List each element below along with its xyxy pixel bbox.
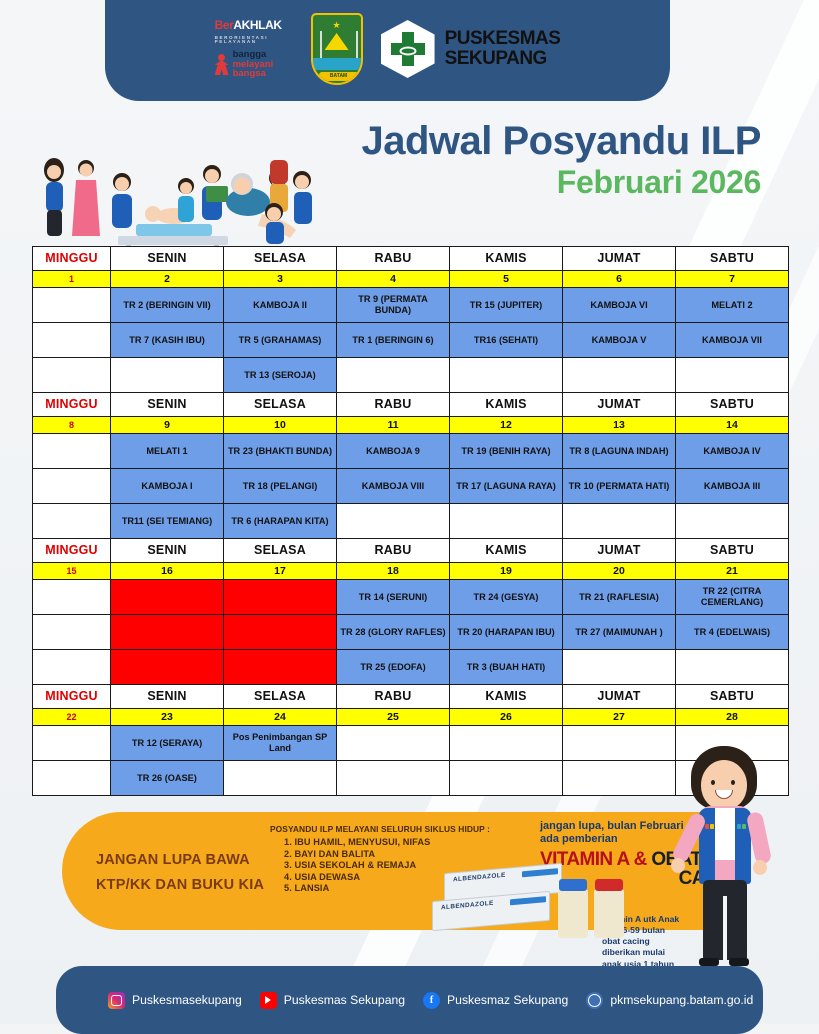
posyandu-cell: MELATI 1: [111, 434, 224, 469]
dayname-row: MINGGUSENINSELASARABUKAMISJUMATSABTU: [33, 393, 789, 417]
posyandu-cell: TR 15 (JUPITER): [450, 288, 563, 323]
empty-cell: [337, 761, 450, 796]
dayname-cell-selasa: SELASA: [224, 247, 337, 271]
dayname-row: MINGGUSENINSELASARABUKAMISJUMATSABTU: [33, 539, 789, 563]
website-icon: [586, 992, 603, 1009]
dayname-cell-selasa: SELASA: [224, 393, 337, 417]
posyandu-cell: TR 1 (BERINGIN 6): [337, 323, 450, 358]
date-cell-10: 10: [224, 417, 337, 434]
posyandu-cell: TR 8 (LAGUNA INDAH): [563, 434, 676, 469]
posyandu-cell: MELATI 2: [676, 288, 789, 323]
posyandu-schedule-table: MINGGUSENINSELASARABUKAMISJUMATSABTU1234…: [32, 246, 789, 796]
empty-cell: [33, 469, 111, 504]
empty-cell: [450, 726, 563, 761]
empty-cell: [33, 650, 111, 685]
posyandu-cell: Pos Penimbangan SP Land: [224, 726, 337, 761]
date-cell-28: 28: [676, 709, 789, 726]
date-cell-13: 13: [563, 417, 676, 434]
date-cell-26: 26: [450, 709, 563, 726]
dayname-row: MINGGUSENINSELASARABUKAMISJUMATSABTU: [33, 247, 789, 271]
empty-cell: [33, 726, 111, 761]
dayname-cell-senin: SENIN: [111, 539, 224, 563]
dayname-cell-minggu: MINGGU: [33, 247, 111, 271]
green-cross-icon: [381, 20, 435, 78]
blocked-cell: [224, 580, 337, 615]
blocked-cell: [224, 650, 337, 685]
date-cell-16: 16: [111, 563, 224, 580]
date-cell-8: 8: [33, 417, 111, 434]
date-cell-21: 21: [676, 563, 789, 580]
posyandu-cell: TR 14 (SERUNI): [337, 580, 450, 615]
posyandu-cell: TR11 (SEI TEMIANG): [111, 504, 224, 539]
date-cell-17: 17: [224, 563, 337, 580]
date-cell-23: 23: [111, 709, 224, 726]
posyandu-cell: TR 21 (RAFLESIA): [563, 580, 676, 615]
date-cell-2: 2: [111, 271, 224, 288]
dayname-cell-sabtu: SABTU: [676, 393, 789, 417]
dayname-cell-sabtu: SABTU: [676, 539, 789, 563]
dayname-cell-sabtu: SABTU: [676, 247, 789, 271]
entry-row: KAMBOJA ITR 18 (PELANGI)KAMBOJA VIIITR 1…: [33, 469, 789, 504]
dayname-cell-selasa: SELASA: [224, 539, 337, 563]
lifecycle-item: 2. BAYI DAN BALITA: [284, 849, 520, 859]
date-cell-24: 24: [224, 709, 337, 726]
empty-cell: [33, 615, 111, 650]
empty-cell: [563, 504, 676, 539]
posyandu-cell: TR16 (SEHATI): [450, 323, 563, 358]
posyandu-cell: TR 9 (PERMATA BUNDA): [337, 288, 450, 323]
dayname-cell-minggu: MINGGU: [33, 685, 111, 709]
empty-cell: [450, 761, 563, 796]
blocked-cell: [111, 580, 224, 615]
dayname-cell-senin: SENIN: [111, 247, 224, 271]
posyandu-cell: TR 23 (BHAKTI BUNDA): [224, 434, 337, 469]
empty-cell: [563, 761, 676, 796]
empty-cell: [33, 323, 111, 358]
empty-cell: [337, 504, 450, 539]
dayname-cell-sabtu: SABTU: [676, 685, 789, 709]
posyandu-cell: TR 22 (CITRA CEMERLANG): [676, 580, 789, 615]
entry-row: TR 2 (BERINGIN VII)KAMBOJA IITR 9 (PERMA…: [33, 288, 789, 323]
posyandu-cell: KAMBOJA V: [563, 323, 676, 358]
blocked-cell: [224, 615, 337, 650]
posyandu-cell: TR 7 (KASIH IBU): [111, 323, 224, 358]
empty-cell: [676, 504, 789, 539]
dayname-cell-kamis: KAMIS: [450, 685, 563, 709]
date-row: 15161718192021: [33, 563, 789, 580]
dayname-cell-jumat: JUMAT: [563, 393, 676, 417]
date-cell-22: 22: [33, 709, 111, 726]
website-label: pkmsekupang.batam.go.id: [610, 993, 753, 1007]
illustration-svg: [26, 140, 316, 250]
puskesmas-sekupang-logo: PUSKESMAS SEKUPANG: [381, 20, 561, 78]
date-cell-1: 1: [33, 271, 111, 288]
posyandu-cell: KAMBOJA VIII: [337, 469, 450, 504]
youtube-icon: [260, 992, 277, 1009]
berakhlak-wordmark: BerAKHLAK: [215, 19, 293, 31]
entry-row: TR 28 (GLORY RAFLES)TR 20 (HARAPAN IBU)T…: [33, 615, 789, 650]
medicine-illustration: ALBENDAZOLE ALBENDAZOLE: [432, 866, 632, 938]
date-cell-19: 19: [450, 563, 563, 580]
empty-cell: [337, 726, 450, 761]
vitamin-vial-red: [594, 888, 624, 938]
date-cell-25: 25: [337, 709, 450, 726]
empty-cell: [33, 580, 111, 615]
empty-cell: [450, 504, 563, 539]
posyandu-cell: TR 3 (BUAH HATI): [450, 650, 563, 685]
dayname-cell-rabu: RABU: [337, 247, 450, 271]
facebook-icon: f: [423, 992, 440, 1009]
dayname-cell-minggu: MINGGU: [33, 393, 111, 417]
posyandu-cell: TR 19 (BENIH RAYA): [450, 434, 563, 469]
empty-cell: [33, 434, 111, 469]
social-website[interactable]: pkmsekupang.batam.go.id: [586, 992, 753, 1009]
dayname-cell-kamis: KAMIS: [450, 247, 563, 271]
date-row: 1234567: [33, 271, 789, 288]
entry-row: TR 25 (EDOFA)TR 3 (BUAH HATI): [33, 650, 789, 685]
empty-cell: [563, 358, 676, 393]
posyandu-cell: TR 26 (OASE): [111, 761, 224, 796]
date-cell-12: 12: [450, 417, 563, 434]
posyandu-cell: TR 4 (EDELWAIS): [676, 615, 789, 650]
posyandu-cell: TR 12 (SERAYA): [111, 726, 224, 761]
posyandu-cell: TR 27 (MAIMUNAH ): [563, 615, 676, 650]
entry-row: TR11 (SEI TEMIANG)TR 6 (HARAPAN KITA): [33, 504, 789, 539]
people-icon: [215, 54, 230, 75]
empty-cell: [563, 726, 676, 761]
puskesmas-label: PUSKESMAS: [445, 29, 561, 49]
empty-cell: [450, 358, 563, 393]
batam-emblem: ★ BATAM: [311, 13, 363, 85]
empty-cell: [224, 761, 337, 796]
posyandu-cell: TR 5 (GRAHAMAS): [224, 323, 337, 358]
batam-ribbon-label: BATAM: [319, 72, 359, 81]
date-cell-27: 27: [563, 709, 676, 726]
dayname-cell-senin: SENIN: [111, 685, 224, 709]
posyandu-cell: TR 13 (SEROJA): [224, 358, 337, 393]
empty-cell: [676, 358, 789, 393]
empty-cell: [337, 358, 450, 393]
posyandu-cell: TR 28 (GLORY RAFLES): [337, 615, 450, 650]
empty-cell: [33, 761, 111, 796]
posyandu-cell: KAMBOJA III: [676, 469, 789, 504]
social-facebook[interactable]: f Puskesmaz Sekupang: [423, 992, 568, 1009]
dayname-cell-jumat: JUMAT: [563, 539, 676, 563]
date-cell-5: 5: [450, 271, 563, 288]
entry-row: TR 14 (SERUNI)TR 24 (GESYA)TR 21 (RAFLES…: [33, 580, 789, 615]
entry-row: TR 7 (KASIH IBU)TR 5 (GRAHAMAS)TR 1 (BER…: [33, 323, 789, 358]
date-cell-4: 4: [337, 271, 450, 288]
empty-cell: [33, 288, 111, 323]
dayname-cell-minggu: MINGGU: [33, 539, 111, 563]
family-illustration: [26, 140, 316, 250]
empty-cell: [676, 650, 789, 685]
posyandu-cell: KAMBOJA VII: [676, 323, 789, 358]
posyandu-cell: KAMBOJA IV: [676, 434, 789, 469]
dayname-cell-rabu: RABU: [337, 393, 450, 417]
bangsa-label: bangsa: [233, 69, 274, 79]
posyandu-cell: KAMBOJA VI: [563, 288, 676, 323]
dayname-cell-rabu: RABU: [337, 685, 450, 709]
dayname-row: MINGGUSENINSELASARABUKAMISJUMATSABTU: [33, 685, 789, 709]
posyandu-cell: KAMBOJA I: [111, 469, 224, 504]
date-cell-11: 11: [337, 417, 450, 434]
entry-row: TR 13 (SEROJA): [33, 358, 789, 393]
sekupang-label: SEKUPANG: [445, 49, 561, 69]
vitamin-vial-blue: [558, 888, 588, 938]
posyandu-cell: TR 24 (GESYA): [450, 580, 563, 615]
lifecycle-heading: POSYANDU ILP MELAYANI SELURUH SIKLUS HID…: [270, 824, 520, 834]
dayname-cell-rabu: RABU: [337, 539, 450, 563]
date-cell-9: 9: [111, 417, 224, 434]
dayname-cell-kamis: KAMIS: [450, 539, 563, 563]
instagram-icon: [108, 992, 125, 1009]
health-cadre-illustration: [665, 746, 783, 968]
posyandu-cell: TR 18 (PELANGI): [224, 469, 337, 504]
posyandu-cell: TR 25 (EDOFA): [337, 650, 450, 685]
date-row: 891011121314: [33, 417, 789, 434]
header-bar: BerAKHLAK BERORIENTASI PELAYANAN bangga …: [105, 0, 670, 101]
empty-cell: [33, 504, 111, 539]
date-cell-15: 15: [33, 563, 111, 580]
berakhlak-subtitle: BERORIENTASI PELAYANAN: [215, 36, 293, 45]
date-cell-18: 18: [337, 563, 450, 580]
empty-cell: [563, 650, 676, 685]
posyandu-cell: KAMBOJA II: [224, 288, 337, 323]
date-cell-3: 3: [224, 271, 337, 288]
dayname-cell-jumat: JUMAT: [563, 685, 676, 709]
dayname-cell-kamis: KAMIS: [450, 393, 563, 417]
entry-row: MELATI 1TR 23 (BHAKTI BUNDA)KAMBOJA 9TR …: [33, 434, 789, 469]
date-cell-7: 7: [676, 271, 789, 288]
lifecycle-item: 1. IBU HAMIL, MENYUSUI, NIFAS: [284, 837, 520, 847]
date-cell-6: 6: [563, 271, 676, 288]
empty-cell: [111, 358, 224, 393]
posyandu-cell: KAMBOJA 9: [337, 434, 450, 469]
social-instagram[interactable]: Puskesmasekupang: [108, 992, 242, 1009]
instagram-label: Puskesmasekupang: [132, 993, 242, 1007]
date-cell-14: 14: [676, 417, 789, 434]
posyandu-cell: TR 17 (LAGUNA RAYA): [450, 469, 563, 504]
posyandu-cell: TR 6 (HARAPAN KITA): [224, 504, 337, 539]
posyandu-cell: TR 10 (PERMATA HATI): [563, 469, 676, 504]
date-cell-20: 20: [563, 563, 676, 580]
posyandu-cell: TR 2 (BERINGIN VII): [111, 288, 224, 323]
dayname-cell-jumat: JUMAT: [563, 247, 676, 271]
empty-cell: [33, 358, 111, 393]
dayname-cell-selasa: SELASA: [224, 685, 337, 709]
social-youtube[interactable]: Puskesmas Sekupang: [260, 992, 405, 1009]
berakhlak-logo: BerAKHLAK BERORIENTASI PELAYANAN bangga …: [215, 19, 293, 79]
blocked-cell: [111, 615, 224, 650]
posyandu-cell: TR 20 (HARAPAN IBU): [450, 615, 563, 650]
date-row: 22232425262728: [33, 709, 789, 726]
blocked-cell: [111, 650, 224, 685]
facebook-label: Puskesmaz Sekupang: [447, 993, 568, 1007]
dayname-cell-senin: SENIN: [111, 393, 224, 417]
logo-group: BerAKHLAK BERORIENTASI PELAYANAN bangga …: [215, 13, 561, 85]
youtube-label: Puskesmas Sekupang: [284, 993, 405, 1007]
